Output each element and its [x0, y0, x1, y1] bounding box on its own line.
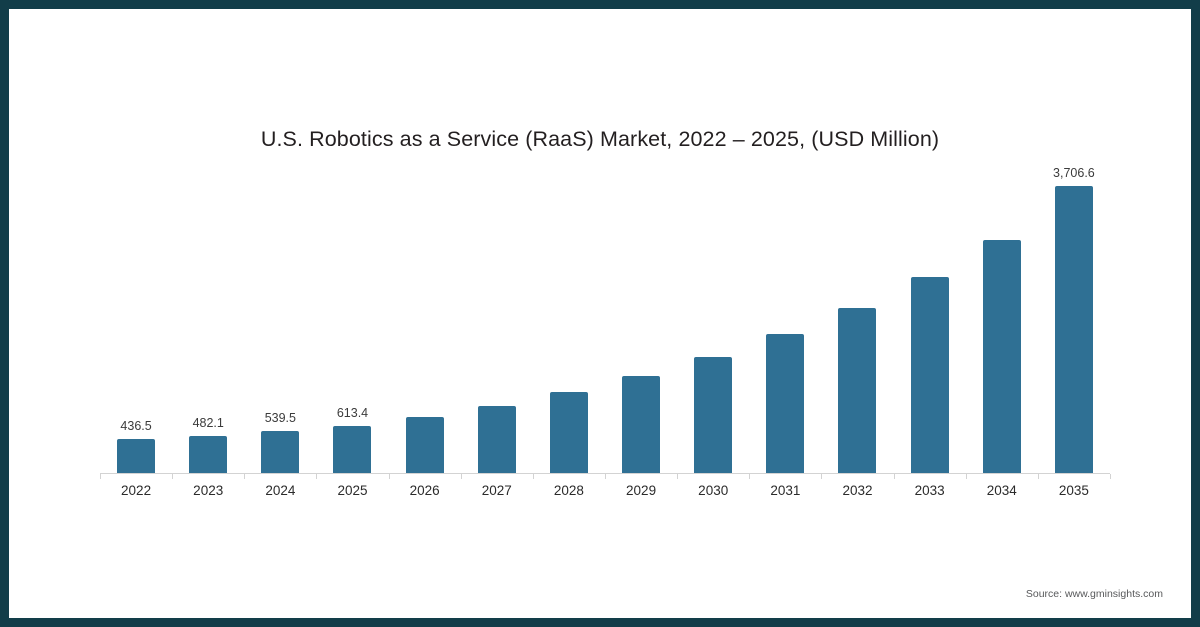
bar-2032	[838, 308, 876, 473]
x-axis-tick	[100, 474, 101, 479]
x-axis-tick	[894, 474, 895, 479]
bar-2029	[622, 376, 660, 473]
x-axis-tick	[966, 474, 967, 479]
bar-group-2027: 2027	[461, 170, 533, 473]
bar-value-label-2023: 482.1	[193, 416, 224, 430]
bar-2022	[117, 439, 155, 473]
bar-2031	[766, 334, 804, 473]
bar-group-2030: 2030	[677, 170, 749, 473]
bar-group-2034: 2034	[966, 170, 1038, 473]
x-axis-tick	[461, 474, 462, 479]
bar-2035	[1055, 186, 1093, 473]
x-axis-label-2024: 2024	[265, 483, 295, 498]
x-axis-tick	[244, 474, 245, 479]
chart-figure: U.S. Robotics as a Service (RaaS) Market…	[0, 0, 1200, 627]
bar-2024	[261, 431, 299, 473]
x-axis-tick	[389, 474, 390, 479]
x-axis-label-2030: 2030	[698, 483, 728, 498]
bar-group-2022: 436.52022	[100, 170, 172, 473]
x-axis-label-2032: 2032	[842, 483, 872, 498]
x-axis-tick	[677, 474, 678, 479]
bar-value-label-2022: 436.5	[120, 419, 151, 433]
bar-2028	[550, 392, 588, 473]
frame-border-left	[0, 0, 9, 627]
frame-border-right	[1191, 0, 1200, 627]
bar-group-2029: 2029	[605, 170, 677, 473]
x-axis-tick	[1038, 474, 1039, 479]
bar-2033	[911, 277, 949, 473]
x-axis-tick	[1110, 474, 1111, 479]
bar-group-2024: 539.52024	[244, 170, 316, 473]
bar-2023	[189, 436, 227, 473]
x-axis-label-2029: 2029	[626, 483, 656, 498]
bar-2030	[694, 357, 732, 473]
bar-value-label-2025: 613.4	[337, 406, 368, 420]
x-axis-label-2035: 2035	[1059, 483, 1089, 498]
frame-border-bottom	[0, 618, 1200, 627]
source-attribution: Source: www.gminsights.com	[1026, 588, 1163, 600]
bar-2034	[983, 240, 1021, 473]
x-axis-label-2031: 2031	[770, 483, 800, 498]
bar-group-2035: 3,706.62035	[1038, 170, 1110, 473]
x-axis-label-2033: 2033	[915, 483, 945, 498]
x-axis-label-2027: 2027	[482, 483, 512, 498]
chart-title: U.S. Robotics as a Service (RaaS) Market…	[9, 127, 1191, 152]
x-axis-tick	[172, 474, 173, 479]
x-axis-label-2023: 2023	[193, 483, 223, 498]
x-axis-tick	[821, 474, 822, 479]
bar-group-2031: 2031	[749, 170, 821, 473]
x-axis-label-2025: 2025	[337, 483, 367, 498]
bar-series: 436.52022482.12023539.52024613.420252026…	[100, 170, 1110, 473]
bar-2025	[333, 426, 371, 473]
bar-value-label-2035: 3,706.6	[1053, 166, 1095, 180]
chart-canvas: U.S. Robotics as a Service (RaaS) Market…	[9, 9, 1191, 618]
x-axis-label-2022: 2022	[121, 483, 151, 498]
bar-2026	[406, 417, 444, 473]
plot-area: 436.52022482.12023539.52024613.420252026…	[100, 170, 1110, 474]
bar-group-2026: 2026	[389, 170, 461, 473]
x-axis-tick	[316, 474, 317, 479]
x-axis-tick	[749, 474, 750, 479]
bar-value-label-2024: 539.5	[265, 411, 296, 425]
bar-2027	[478, 406, 516, 473]
x-axis-label-2028: 2028	[554, 483, 584, 498]
bar-group-2023: 482.12023	[172, 170, 244, 473]
frame-border-top	[0, 0, 1200, 9]
x-axis-tick	[533, 474, 534, 479]
bar-group-2028: 2028	[533, 170, 605, 473]
x-axis-label-2026: 2026	[410, 483, 440, 498]
x-axis-label-2034: 2034	[987, 483, 1017, 498]
x-axis-tick	[605, 474, 606, 479]
bar-group-2032: 2032	[821, 170, 893, 473]
bar-group-2025: 613.42025	[316, 170, 388, 473]
bar-group-2033: 2033	[894, 170, 966, 473]
